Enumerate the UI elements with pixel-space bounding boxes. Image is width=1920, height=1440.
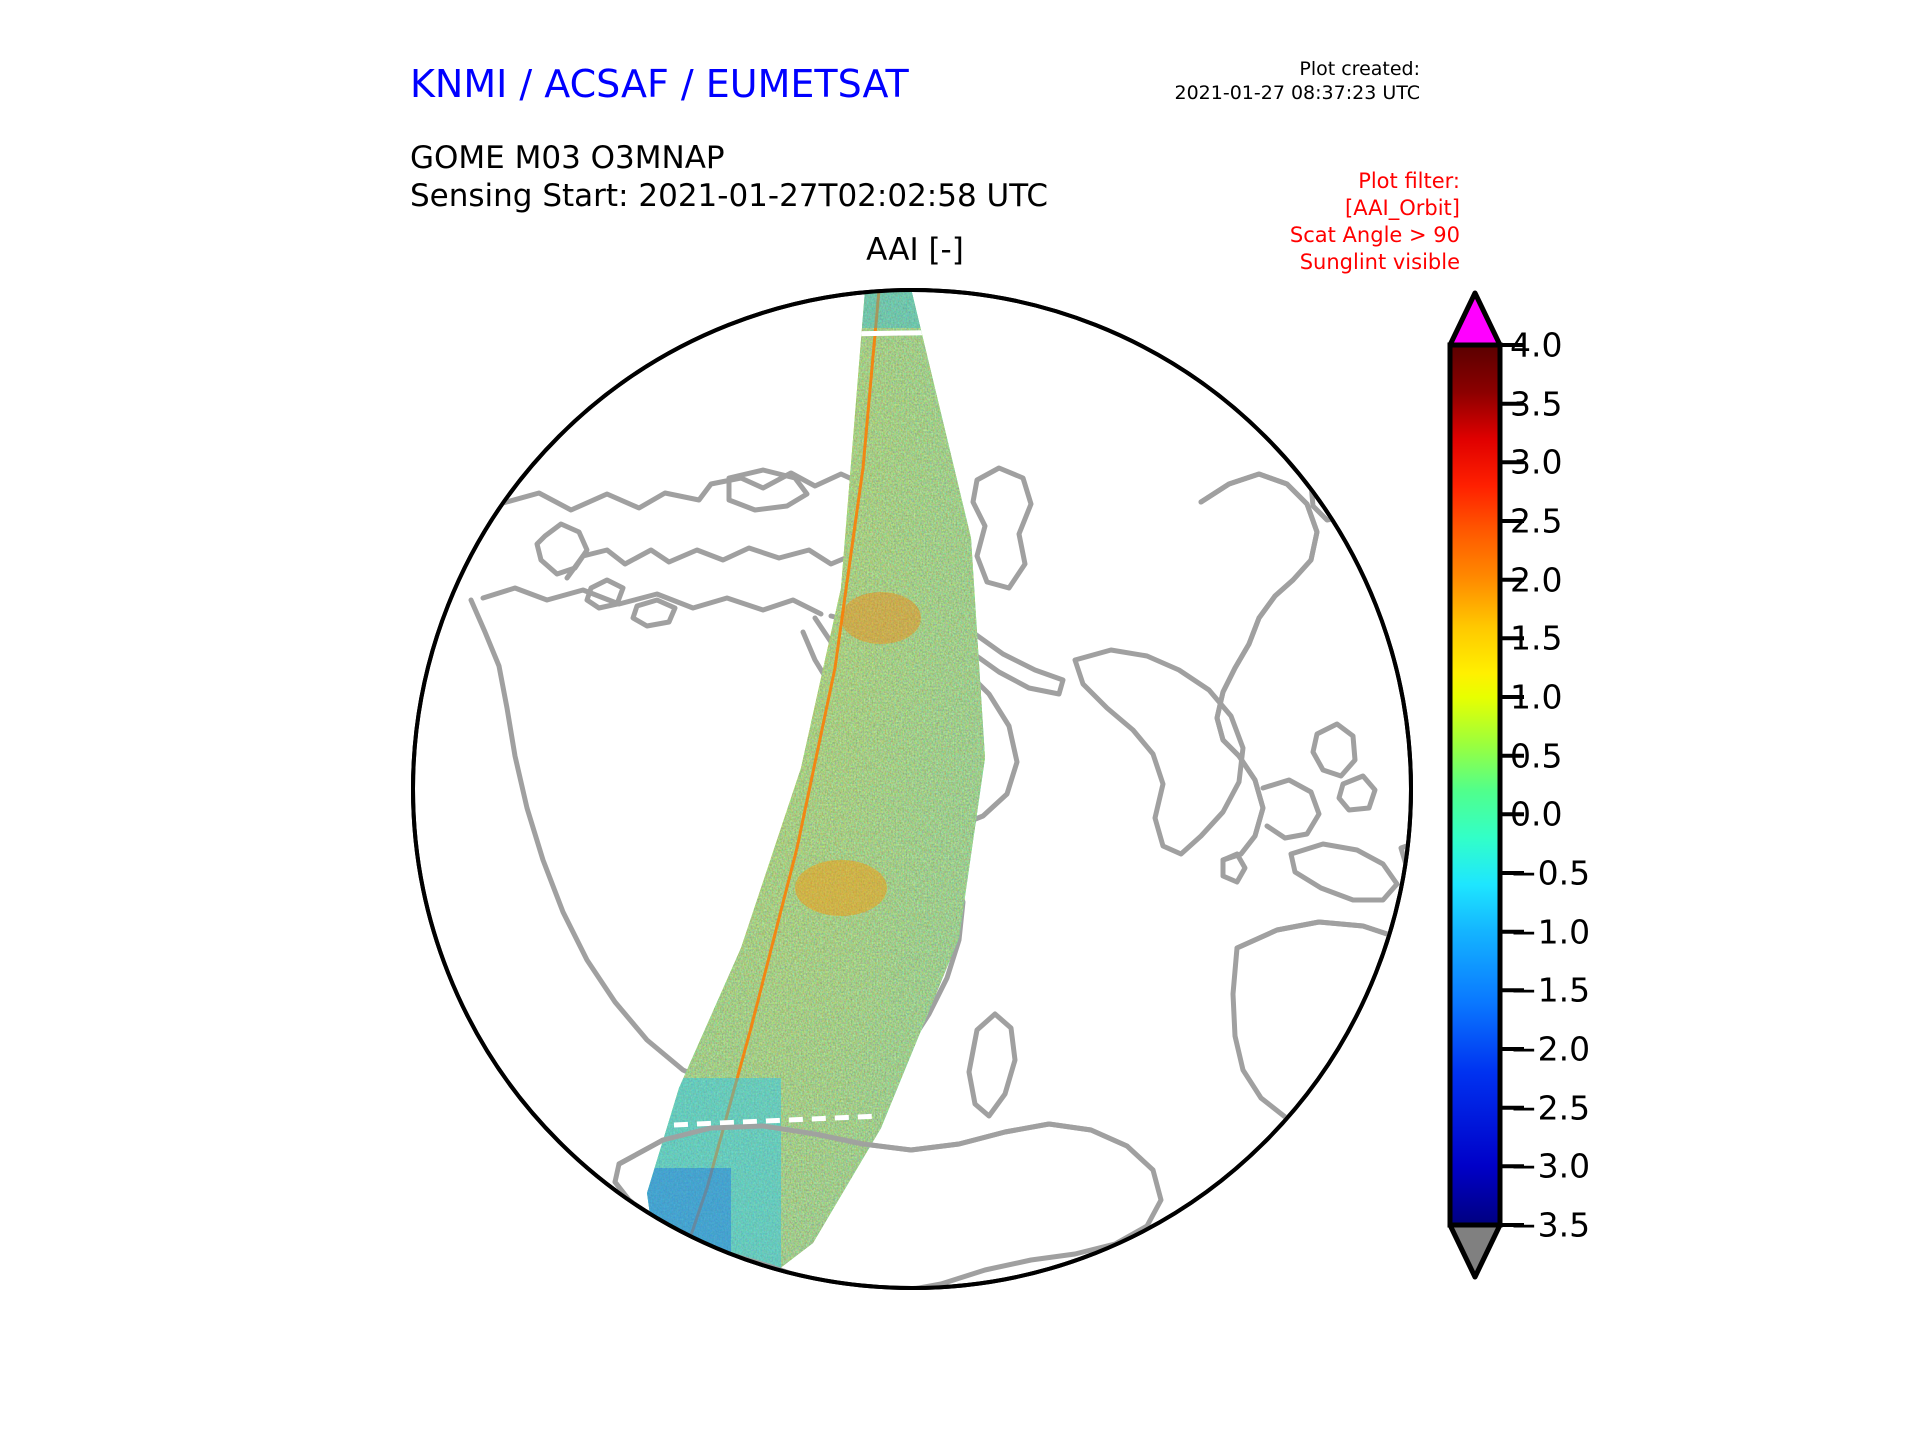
colorbar-gradient bbox=[1450, 345, 1500, 1225]
colorbar-tick-label: −0.5 bbox=[1510, 854, 1590, 893]
plot-filter-sunglint: Sunglint visible bbox=[1290, 249, 1460, 276]
plot-created-timestamp: 2021-01-27 08:37:23 UTC bbox=[1175, 82, 1421, 106]
sensing-start: Sensing Start: 2021-01-27T02:02:58 UTC bbox=[410, 178, 1048, 216]
colorbar-tick-label: 3.5 bbox=[1510, 384, 1562, 423]
dataset-name: GOME M03 O3MNAP bbox=[410, 140, 1048, 178]
colorbar-tick-label: −1.5 bbox=[1510, 971, 1590, 1010]
dataset-info-block: GOME M03 O3MNAP Sensing Start: 2021-01-2… bbox=[410, 140, 1048, 216]
plot-filter-orbit: [AAI_Orbit] bbox=[1290, 195, 1460, 222]
colorbar-under-range-arrow bbox=[1450, 1225, 1500, 1277]
colorbar-tick-label: 4.0 bbox=[1510, 326, 1562, 365]
colorbar-tick-label: 1.0 bbox=[1510, 678, 1562, 717]
variable-title: AAI [-] bbox=[0, 232, 1830, 268]
plot-filter-block: Plot filter: [AAI_Orbit] Scat Angle > 90… bbox=[1290, 168, 1460, 276]
colorbar-tick-label: −2.0 bbox=[1510, 1030, 1590, 1069]
colorbar-tick-label: 0.5 bbox=[1510, 736, 1562, 775]
colorbar-tick-label: 2.5 bbox=[1510, 502, 1562, 541]
colorbar-tick-labels: 4.0 3.5 3.0 2.5 2.0 1.5 1.0 0.5 0.0 −0.5… bbox=[1510, 285, 1660, 1295]
colorbar-tick-label: −1.0 bbox=[1510, 912, 1590, 951]
globe-map bbox=[411, 288, 1413, 1290]
colorbar-tick-label: −2.5 bbox=[1510, 1088, 1590, 1127]
colorbar-tick-label: −3.0 bbox=[1510, 1147, 1590, 1186]
colorbar-over-range-arrow bbox=[1450, 293, 1500, 345]
provider-title: KNMI / ACSAF / EUMETSAT bbox=[410, 62, 909, 106]
colorbar: 4.0 3.5 3.0 2.5 2.0 1.5 1.0 0.5 0.0 −0.5… bbox=[1432, 285, 1752, 1295]
plot-created-label: Plot created: bbox=[1175, 58, 1421, 82]
colorbar-tick-label: −3.5 bbox=[1510, 1206, 1590, 1245]
plot-filter-scat-angle: Scat Angle > 90 bbox=[1290, 222, 1460, 249]
colorbar-tick-label: 1.5 bbox=[1510, 619, 1562, 658]
colorbar-tick-label: 2.0 bbox=[1510, 560, 1562, 599]
colorbar-tick-label: 0.0 bbox=[1510, 795, 1562, 834]
plot-filter-label: Plot filter: bbox=[1290, 168, 1460, 195]
colorbar-tick-label: 3.0 bbox=[1510, 443, 1562, 482]
plot-created-block: Plot created: 2021-01-27 08:37:23 UTC bbox=[1175, 58, 1421, 106]
aai-orbit-plot-page: KNMI / ACSAF / EUMETSAT Plot created: 20… bbox=[0, 0, 1920, 1440]
